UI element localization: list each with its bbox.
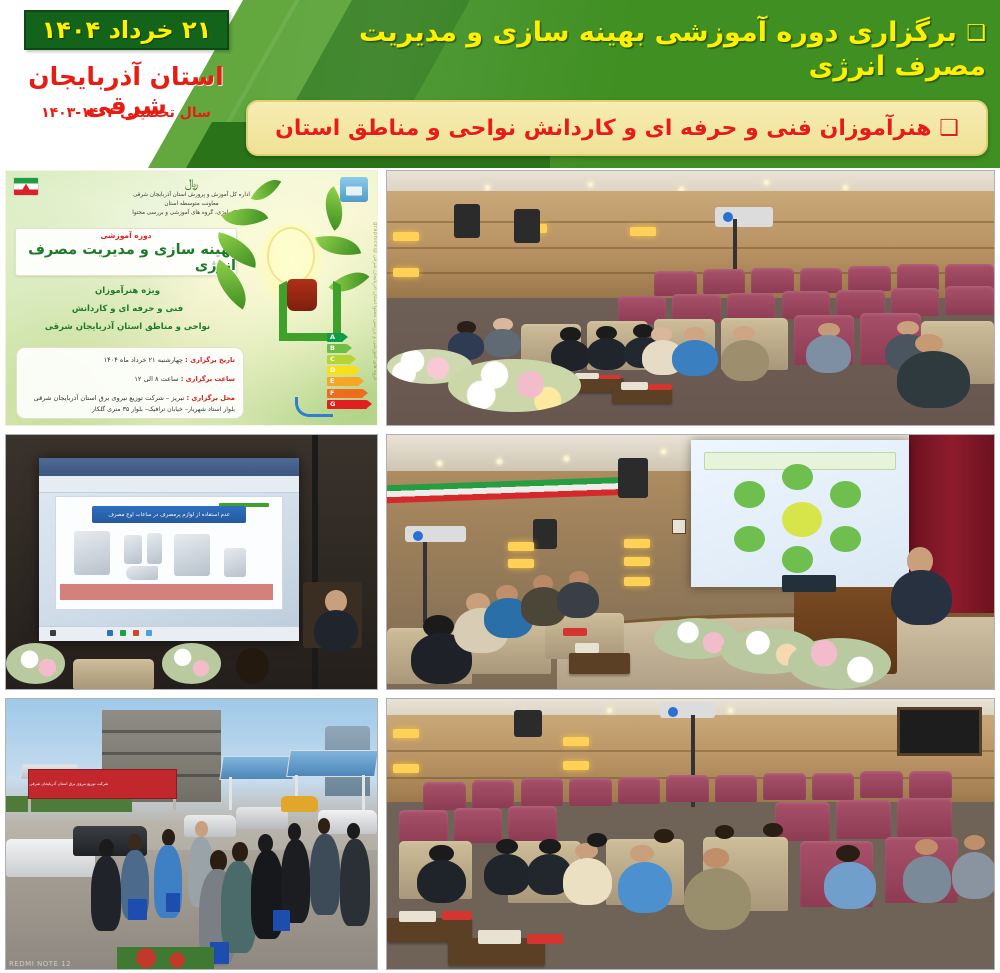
subtitle-card: ❑ هنرآموزان فنی و حرفه ای و کاردانش نواح… <box>246 100 988 156</box>
projector-stand <box>423 537 427 623</box>
bullet-square-icon-2: ❑ <box>939 116 959 141</box>
person-body <box>310 834 340 915</box>
speaker-icon <box>454 204 480 238</box>
plug-icon <box>287 279 317 311</box>
attendee-body <box>417 860 466 903</box>
slide-footer-band <box>60 584 273 600</box>
seat <box>569 778 611 805</box>
attendee-body <box>672 340 718 376</box>
seat <box>860 771 902 798</box>
person-head <box>347 823 360 839</box>
person-head <box>162 829 175 847</box>
wall-sconce-icon <box>624 557 650 566</box>
seat <box>73 659 155 689</box>
attendee-head <box>733 326 755 341</box>
tissue-box <box>478 930 520 944</box>
side-table <box>612 387 673 403</box>
carport-post <box>229 777 232 809</box>
company-sign-text: شرکت توزیع نیروی برق استان آذربایجان شرق… <box>29 781 108 786</box>
bullet-square-icon: ❑ <box>966 21 986 46</box>
energy-bar-a: A <box>327 333 343 342</box>
diagram-center-node <box>782 502 821 537</box>
powerpoint-ribbon[interactable] <box>39 476 299 492</box>
auditorium-room-2 <box>387 699 994 969</box>
speaker-icon <box>514 209 540 243</box>
header-banner: ۲۱ خرداد ۱۴۰۴ استان آذربایجان شرقی سال ت… <box>0 0 1000 168</box>
conference-bag <box>166 893 181 912</box>
attendee-body <box>587 338 626 369</box>
auditorium-audience-photo <box>386 170 995 426</box>
control-window <box>897 707 982 756</box>
wall-portrait <box>672 519 685 534</box>
taxi <box>281 796 318 812</box>
poster-course-title: بهینه سازی و مدیریت مصرف انرژی <box>16 242 236 274</box>
snack-pack <box>648 384 672 390</box>
projection-screen: عدم استفاده از لوازم پرمصرف در ساعات اوج… <box>39 458 299 641</box>
event-date-chip: ۲۱ خرداد ۱۴۰۴ <box>24 10 229 50</box>
org-line-2: معاونت متوسطه استان <box>132 200 250 209</box>
ceiling-light-icon <box>606 707 613 714</box>
attendee-body <box>824 862 876 909</box>
diagram-node-br <box>830 526 861 553</box>
snack-pack <box>599 375 620 380</box>
slide-title: عدم استفاده از لوازم پرمصرف در ساعات اوج… <box>92 506 246 523</box>
poster-photo: ﷼ اداره کل آموزش و پرورش استان آذربایجان… <box>5 170 378 426</box>
attendee-head <box>915 334 943 353</box>
presentation-screen-photo: عدم استفاده از لوازم پرمصرف در ساعات اوج… <box>5 434 378 690</box>
attendee-body <box>484 329 520 357</box>
poster-detail-time: ساعت برگزاری : ساعت ۸ الی ۱۲ <box>17 375 243 385</box>
poster-detail-date-label: تاریخ برگزاری : <box>185 356 235 364</box>
energy-bar-c: C <box>327 355 351 364</box>
poster-audience-line-3: نواحی و مناطق استان آذربایجان شرقی <box>20 319 235 337</box>
seat <box>800 268 842 293</box>
attendee-head <box>654 829 673 843</box>
projected-slide <box>691 440 910 587</box>
person-head <box>288 823 301 841</box>
wall-sconce-icon <box>563 737 589 746</box>
energy-bar-f: F <box>327 389 363 398</box>
wall-sconce-icon <box>630 227 656 236</box>
attendee-body <box>721 340 770 381</box>
poster-audience-line-1: ویژه هنرآموزان <box>20 283 235 301</box>
seat-rows-2 <box>387 775 994 969</box>
car <box>184 815 236 837</box>
iran-emblem-icon: ﷼ <box>185 176 198 191</box>
energy-bar-g: G <box>327 400 367 409</box>
wall-sconce-icon <box>393 232 419 241</box>
powerpoint-taskbar-icon[interactable] <box>133 630 139 636</box>
browser-icon[interactable] <box>146 630 152 636</box>
poster-detail-date-value: چهارشنبه ۲۱ خرداد ماه ۱۴۰۴ <box>104 356 183 364</box>
poster-detail-time-label: ساعت برگزاری : <box>181 375 235 383</box>
person-body <box>91 856 121 932</box>
company-sign: شرکت توزیع نیروی برق استان آذربایجان شرق… <box>28 769 176 799</box>
poster-audience-line-2: فنی و حرفه ای و کاردانش <box>20 301 235 319</box>
car <box>236 807 288 829</box>
speaker-podium-photo <box>386 434 995 690</box>
iran-flag-icon <box>13 177 39 196</box>
attendee-body <box>484 854 530 895</box>
speaker-icon <box>514 710 541 737</box>
seat <box>775 802 830 841</box>
flower-bed <box>117 947 213 969</box>
seat <box>672 294 721 322</box>
ceiling-light-icon <box>727 707 734 714</box>
seat <box>848 266 890 291</box>
diagram-node-bl <box>734 526 765 553</box>
flower-arrangement <box>6 643 65 684</box>
wall-sconce-icon <box>508 542 534 551</box>
poster-watermark: گروه های آموزشی و بررسی محتوا استان آذرب… <box>366 211 378 391</box>
wall-sconce-icon <box>508 559 534 568</box>
tissue-box <box>399 911 435 923</box>
powerpoint-slide: عدم استفاده از لوازم پرمصرف در ساعات اوج… <box>55 496 284 609</box>
audience-seated-photo <box>386 698 995 970</box>
poster-title-card: دوره آموزشی بهینه سازی و مدیریت مصرف انر… <box>15 228 237 276</box>
camera-watermark: REDMI NOTE 12 <box>9 960 71 968</box>
seat <box>423 782 465 809</box>
seat <box>909 771 951 798</box>
attendee-head <box>236 648 269 684</box>
attendee-head <box>715 825 734 839</box>
seat <box>508 806 557 841</box>
diagram-node-tr <box>830 481 861 508</box>
attendee-body <box>897 351 970 408</box>
wall-sconce-icon <box>393 729 419 738</box>
ceiling-light-icon <box>660 448 667 455</box>
energy-rating-chart: A B C D E F G <box>327 333 371 411</box>
kettle-icon <box>147 533 163 564</box>
flower-arrangement <box>162 643 221 684</box>
speaker-body <box>314 610 359 651</box>
seat <box>897 264 939 289</box>
attendee-body <box>618 862 673 913</box>
poster-page: ۲۱ خرداد ۱۴۰۴ استان آذربایجان شرقی سال ت… <box>0 0 1000 973</box>
dark-room: عدم استفاده از لوازم پرمصرف در ساعات اوج… <box>6 435 377 689</box>
auditorium-room <box>387 171 994 425</box>
poster-detail-card: تاریخ برگزاری : چهارشنبه ۲۱ خرداد ماه ۱۴… <box>16 347 244 419</box>
solar-carport-icon <box>286 750 378 777</box>
attendee-head <box>587 833 606 847</box>
diagram-node-top <box>782 464 813 491</box>
conference-bag <box>128 899 147 921</box>
windows-start-icon[interactable] <box>50 630 56 636</box>
dishwasher-icon <box>174 534 210 576</box>
laptop-icon <box>782 575 837 593</box>
washing-machine-icon <box>74 531 110 576</box>
attendee-head <box>964 835 986 851</box>
energy-bar-d: D <box>327 366 355 375</box>
poster-course-kicker: دوره آموزشی <box>100 231 151 240</box>
poster-detail-time-value: ساعت ۸ الی ۱۲ <box>134 375 178 383</box>
powerpoint-titlebar[interactable] <box>39 458 299 476</box>
wall-sconce-icon <box>624 539 650 548</box>
attendee-body <box>806 335 852 373</box>
snack-pack <box>527 934 563 944</box>
seat <box>618 777 660 804</box>
energy-bar-b: B <box>327 344 347 353</box>
seat <box>454 808 503 843</box>
seat <box>751 268 793 293</box>
tissue-box <box>621 382 648 389</box>
page-title: ❑ برگزاری دوره آموزشی بهینه سازی و مدیری… <box>296 16 986 84</box>
blender-icon <box>124 535 142 564</box>
seat <box>654 271 696 296</box>
speaker-icon <box>618 458 648 499</box>
seat <box>836 800 891 839</box>
projector-stand <box>312 435 318 689</box>
poster-audience: ویژه هنرآموزان فنی و حرفه ای و کاردانش ن… <box>20 283 235 337</box>
vacuum-cleaner-icon <box>224 548 247 577</box>
energy-bar-e: E <box>327 377 359 386</box>
poster-detail-venue-label: محل برگزاری : <box>186 394 235 402</box>
attendee-body <box>903 856 952 903</box>
flower-arrangement <box>448 359 582 413</box>
conference-bag <box>273 910 290 932</box>
attendee-head <box>630 845 654 862</box>
event-date-text: ۲۱ خرداد ۱۴۰۴ <box>42 16 212 44</box>
ceiling-light-icon <box>842 184 849 191</box>
presenter-body <box>891 570 952 626</box>
seat <box>763 773 805 800</box>
diagram-node-tl <box>734 481 765 508</box>
seat-rows <box>387 268 994 425</box>
wall-sconce-icon <box>563 761 589 770</box>
attendee-head <box>763 823 782 837</box>
diagram-node-bottom <box>782 546 813 573</box>
wall-sconce-icon <box>624 577 650 586</box>
attendee-head <box>703 848 730 867</box>
carport-post <box>362 775 365 810</box>
iran-flag-banner <box>387 476 630 502</box>
seat <box>472 780 514 807</box>
person-head <box>318 818 331 834</box>
seat <box>891 288 940 316</box>
snack-pack <box>442 911 472 921</box>
seat <box>521 778 563 805</box>
person-head <box>195 821 208 837</box>
conference-hall <box>387 435 994 689</box>
speaker-icon <box>533 519 557 549</box>
seat <box>666 775 708 802</box>
poster-detail-address: بلوار استاد شهریار– خیابان ترافیک– بلوار… <box>17 405 243 414</box>
page-title-text: برگزاری دوره آموزشی بهینه سازی و مدیریت … <box>359 17 986 82</box>
subtitle-text: ❑ هنرآموزان فنی و حرفه ای و کاردانش نواح… <box>275 116 959 141</box>
outdoor-scene: شرکت توزیع نیروی برق استان آذربایجان شرق… <box>6 699 377 969</box>
explorer-icon[interactable] <box>107 630 113 636</box>
seat <box>715 775 757 802</box>
ceiling-light-icon <box>763 179 770 186</box>
attendee-head <box>539 839 561 855</box>
projector-icon <box>715 207 773 227</box>
seat <box>703 269 745 294</box>
person-head <box>128 834 141 852</box>
outdoor-group-photo: شرکت توزیع نیروی برق استان آذربایجان شرق… <box>5 698 378 970</box>
attendee-body <box>557 582 599 618</box>
attendee-body <box>952 852 996 899</box>
attendee-body <box>684 868 751 930</box>
education-group-logo-icon <box>340 177 368 202</box>
person-head <box>232 842 248 862</box>
tissue-box <box>575 643 599 653</box>
projector-icon <box>405 526 466 541</box>
projector-icon <box>660 702 715 718</box>
photo-grid: ﷼ اداره کل آموزش و پرورش استان آذربایجان… <box>5 170 995 970</box>
windows-taskbar[interactable] <box>39 626 299 641</box>
seat <box>897 798 952 837</box>
seat <box>812 773 854 800</box>
seat <box>727 293 776 321</box>
poster-detail-venue: محل برگزاری : تبریز – شرکت توزیع نیروی ب… <box>17 394 243 404</box>
school-year-label: سال تحصیلی ۱۴۰۴-۱۴۰۳ <box>0 105 252 121</box>
poster-detail-date: تاریخ برگزاری : چهارشنبه ۲۱ خرداد ماه ۱۴… <box>17 356 243 366</box>
subtitle-inner-text: هنرآموزان فنی و حرفه ای و کاردانش نواحی … <box>275 116 931 141</box>
side-table <box>569 653 630 673</box>
iron-icon <box>126 566 158 579</box>
ceiling-light-icon <box>484 184 491 191</box>
app-icon[interactable] <box>120 630 126 636</box>
ceiling-light-icon <box>436 460 443 467</box>
flower-arrangement <box>788 638 891 689</box>
person-body <box>340 839 370 925</box>
poster-detail-venue-value: تبریز – شرکت توزیع نیروی برق استان آذربا… <box>34 394 185 402</box>
seat <box>945 286 994 314</box>
org-line-1: اداره کل آموزش و پرورش استان آذربایجان ش… <box>132 191 250 200</box>
wall-sconce-icon <box>393 764 419 773</box>
seat <box>399 810 448 845</box>
snack-pack <box>563 628 587 636</box>
attendee-body <box>563 858 612 905</box>
